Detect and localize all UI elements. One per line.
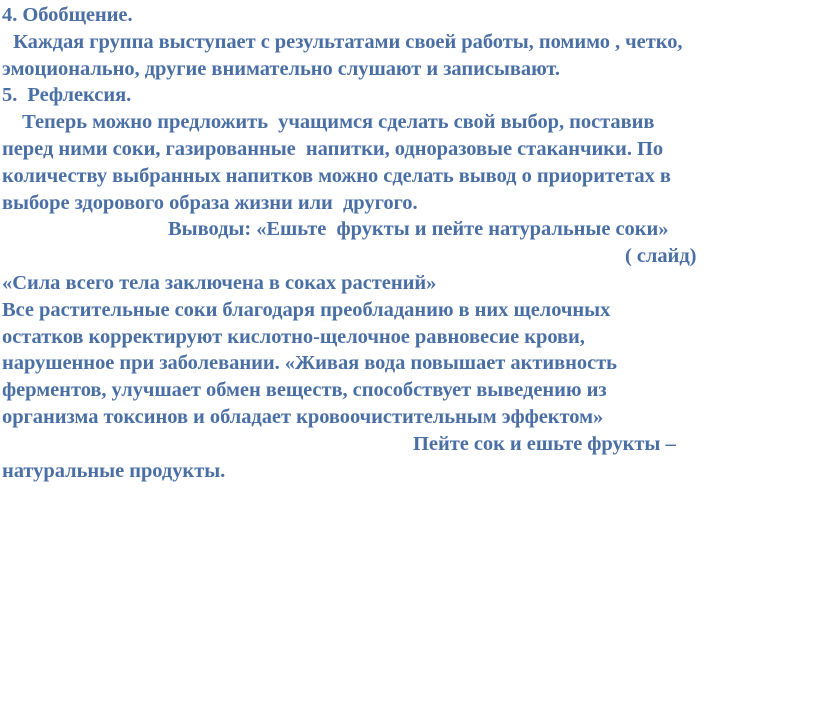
text-line: количеству выбранных напитков можно сдел…	[0, 163, 816, 190]
text-line: Каждая группа выступает с результатами с…	[0, 29, 816, 56]
slide-text-body: 4. Обобщение. Каждая группа выступает с …	[0, 2, 816, 484]
text-line: остатков корректируют кислотно-щелочное …	[0, 324, 816, 351]
slide-canvas: 4. Обобщение. Каждая группа выступает с …	[0, 0, 816, 727]
text-line-slide-note: ( слайд)	[0, 243, 816, 270]
text-line: 4. Обобщение.	[0, 2, 816, 29]
text-line: нарушенное при заболевании. «Живая вода …	[0, 350, 816, 377]
text-line: выборе здорового образа жизни или другог…	[0, 190, 816, 217]
text-line: 5. Рефлексия.	[0, 82, 816, 109]
text-line: организма токсинов и обладает кровоочист…	[0, 404, 816, 431]
text-line: Все растительные соки благодаря преоблад…	[0, 297, 816, 324]
text-line: перед ними соки, газированные напитки, о…	[0, 136, 816, 163]
text-line-conclusion: Выводы: «Ешьте фрукты и пейте натуральны…	[0, 216, 816, 243]
text-line-closing: Пейте сок и ешьте фрукты –	[0, 431, 816, 458]
text-line: ферментов, улучшает обмен веществ, спосо…	[0, 377, 816, 404]
text-line: Теперь можно предложить учащимся сделать…	[0, 109, 816, 136]
text-line-quote: «Сила всего тела заключена в соках расте…	[0, 270, 816, 297]
text-line: эмоционально, другие внимательно слушают…	[0, 56, 816, 83]
text-line-closing-cont: натуральные продукты.	[0, 458, 816, 485]
